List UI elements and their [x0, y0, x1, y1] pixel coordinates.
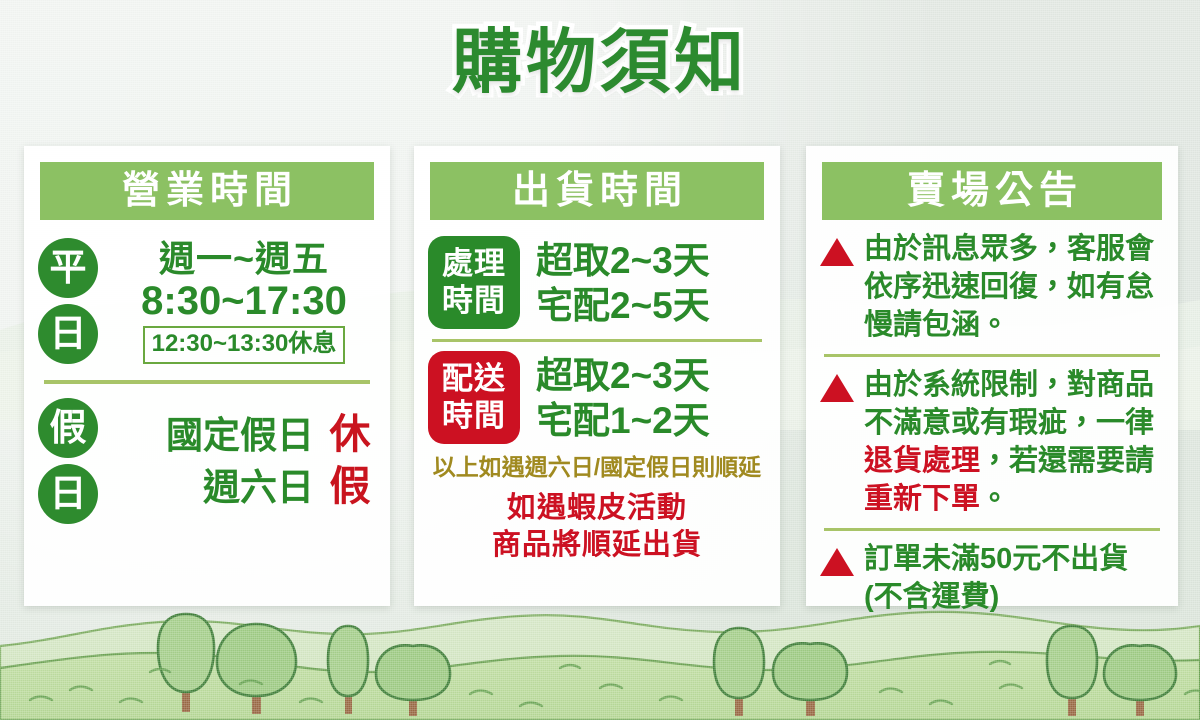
red-triangle-bullet-icon — [820, 374, 854, 402]
weekday-badge-top: 平 — [38, 238, 98, 298]
processing-time-badge-line1: 處理 — [428, 245, 520, 282]
announcement-item: 由於訊息眾多，客服會依序迅速回復，如有怠慢請包涵。 — [820, 230, 1164, 344]
delivery-time-row: 配送 時間 超取2~3天 宅配1~2天 — [428, 351, 766, 444]
processing-time-home-delivery: 宅配2~5天 — [536, 283, 766, 328]
holiday-row-status: 假 — [324, 462, 376, 510]
delivery-time-pickup: 超取2~3天 — [536, 353, 766, 398]
holiday-badge-bottom: 日 — [38, 464, 98, 524]
weekday-days-range: 週一~週五 — [159, 238, 329, 280]
announcement-item: 訂單未滿50元不出貨(不含運費) — [820, 540, 1164, 616]
card-store-announcements-body: 由於訊息眾多，客服會依序迅速回復，如有怠慢請包涵。 由於系統限制，對商品不滿意或… — [806, 220, 1178, 616]
card-store-announcements: 賣場公告 由於訊息眾多，客服會依序迅速回復，如有怠慢請包涵。 由於系統限制，對商… — [806, 146, 1178, 606]
delivery-time-badge: 配送 時間 — [428, 351, 520, 444]
holiday-badge-group: 假 日 — [38, 398, 98, 524]
weekday-rest-note: 12:30~13:30休息 — [143, 326, 346, 364]
card-shipping-time: 出貨時間 處理 時間 超取2~3天 宅配2~5天 配送 時間 — [414, 146, 780, 606]
card-business-hours-header: 營業時間 — [40, 162, 374, 220]
holiday-row: 週六日 假 — [112, 462, 376, 512]
processing-time-badge: 處理 時間 — [428, 236, 520, 329]
plain-phrase: ，若還需要請 — [980, 445, 1154, 477]
red-triangle-bullet-icon — [820, 548, 854, 576]
processing-time-badge-line2: 時間 — [428, 282, 520, 319]
page-title: 購物須知 — [0, 20, 1200, 104]
holiday-badge-top: 假 — [38, 398, 98, 458]
announcement-text: 訂單未滿50元不出貨(不含運費) — [864, 540, 1164, 616]
plain-phrase: 。 — [980, 483, 1009, 515]
shipping-campaign-note-line2: 商品將順延出貨 — [428, 527, 766, 564]
weekday-hours-row: 平 日 週一~週五 8:30~17:30 12:30~13:30休息 — [38, 238, 376, 364]
card-business-hours-body: 平 日 週一~週五 8:30~17:30 12:30~13:30休息 假 日 國 — [24, 220, 390, 524]
weekday-hours-text: 週一~週五 8:30~17:30 12:30~13:30休息 — [112, 238, 376, 364]
announcement-item: 由於系統限制，對商品不滿意或有瑕疵，一律退貨處理，若還需要請重新下單。 — [820, 366, 1164, 518]
announcement-divider — [824, 528, 1160, 531]
announcement-text: 由於訊息眾多，客服會依序迅速回復，如有怠慢請包涵。 — [864, 230, 1164, 344]
plain-phrase: 由於系統限制，對商品不滿意或有瑕疵，一律 — [864, 369, 1154, 439]
highlighted-phrase: 退貨處理 — [864, 445, 980, 477]
delivery-time-home-delivery: 宅配1~2天 — [536, 398, 766, 443]
delivery-time-badge-line2: 時間 — [428, 397, 520, 434]
processing-time-row: 處理 時間 超取2~3天 宅配2~5天 — [428, 236, 766, 329]
plain-phrase: 訂單未滿50元不出貨(不含運費) — [864, 543, 1128, 613]
plain-phrase: 由於訊息眾多，客服會依序迅速回復，如有怠慢請包涵。 — [864, 233, 1154, 341]
holiday-row-label: 週六日 — [203, 464, 314, 512]
shopping-info-graphic: 購物須知 營業時間 平 日 週一~週五 8:30~17:30 12:30~13:… — [0, 0, 1200, 720]
shipping-divider — [432, 339, 762, 342]
weekday-badge-bottom: 日 — [38, 304, 98, 364]
red-triangle-bullet-icon — [820, 238, 854, 266]
announcement-text: 由於系統限制，對商品不滿意或有瑕疵，一律退貨處理，若還需要請重新下單。 — [864, 366, 1164, 518]
shipping-campaign-note-line1: 如遇蝦皮活動 — [428, 490, 766, 527]
card-store-announcements-header: 賣場公告 — [822, 162, 1162, 220]
weekday-time-range: 8:30~17:30 — [141, 280, 347, 322]
delivery-time-values: 超取2~3天 宅配1~2天 — [536, 353, 766, 443]
shipping-campaign-note: 如遇蝦皮活動 商品將順延出貨 — [428, 490, 766, 564]
shipping-holiday-note: 以上如遇週六日/國定假日則順延 — [428, 452, 766, 482]
weekday-badge-group: 平 日 — [38, 238, 98, 364]
highlighted-phrase: 重新下單 — [864, 483, 980, 515]
holiday-hours-row: 假 日 國定假日 休 週六日 假 — [38, 398, 376, 524]
delivery-time-badge-line1: 配送 — [428, 360, 520, 397]
holiday-row-label: 國定假日 — [166, 412, 314, 460]
processing-time-pickup: 超取2~3天 — [536, 238, 766, 283]
holiday-hours-text: 國定假日 休 週六日 假 — [112, 410, 376, 512]
card-business-hours: 營業時間 平 日 週一~週五 8:30~17:30 12:30~13:30休息 … — [24, 146, 390, 606]
card-shipping-time-header: 出貨時間 — [430, 162, 764, 220]
card-shipping-time-body: 處理 時間 超取2~3天 宅配2~5天 配送 時間 超取2~3天 宅配1~2天 — [414, 220, 780, 564]
processing-time-values: 超取2~3天 宅配2~5天 — [536, 238, 766, 328]
holiday-row: 國定假日 休 — [112, 410, 376, 460]
hours-divider — [44, 380, 370, 384]
holiday-row-status: 休 — [324, 410, 376, 458]
announcement-divider — [824, 354, 1160, 357]
